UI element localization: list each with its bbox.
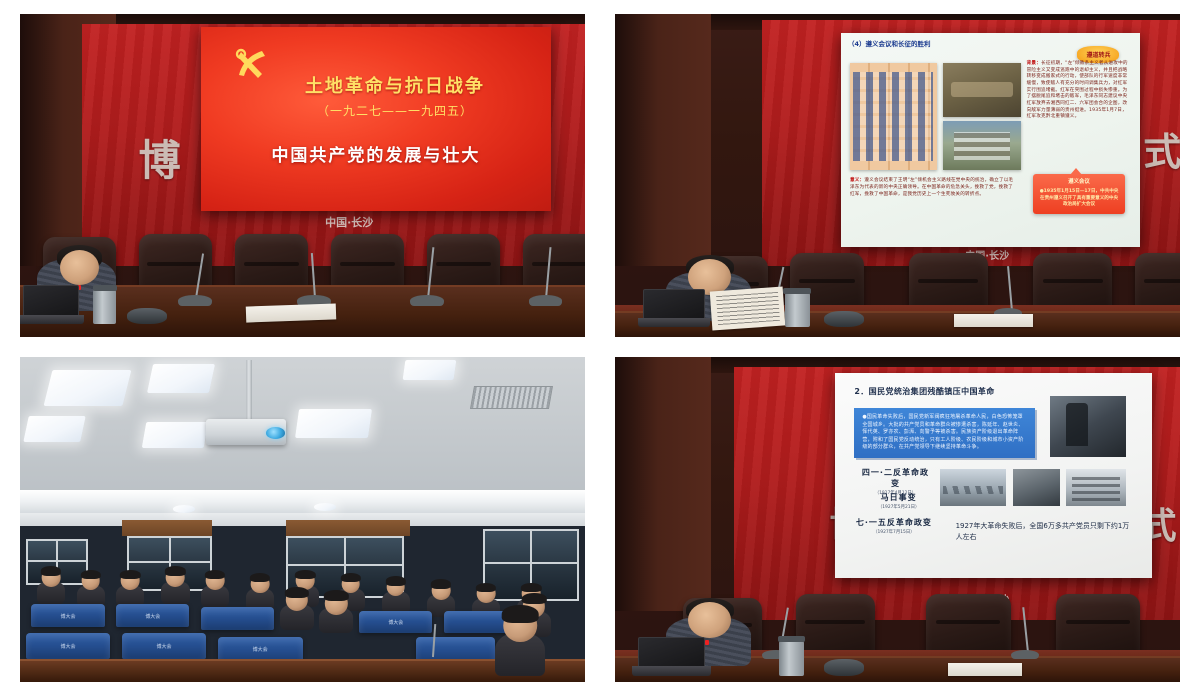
presenter-head	[688, 602, 730, 638]
audience-member	[319, 607, 353, 633]
ceiling-soffit	[20, 490, 585, 513]
slide-body-significance: 意义：遵义会议结束了王明“左”倾机会主义路线在党中央的统治，确立了以毛泽东为代表…	[850, 178, 1018, 198]
seat-cover-text: 博大会	[145, 613, 160, 620]
slide-kmt-suppression: 2．国民党统治集团残酷镇压中国革命 ●国民革命失败后，国民党新军阀疯狂地屠杀革命…	[835, 373, 1151, 578]
window-valance	[122, 520, 212, 536]
slide-title-text: 土地革命与抗日战争	[305, 72, 485, 98]
slide-blue-box: ●国民革命失败后，国民党新军阀疯狂地屠杀革命人民，白色恐怖笼罩全国城乡。大批的共…	[854, 408, 1034, 458]
slide-photo-site-building	[943, 121, 1021, 170]
photo-panel-top-left[interactable]: 博 式 中国·长沙 土地革命与抗日战争 （一九二七——一九四五） 中国共产党的发…	[20, 14, 585, 337]
projection-screen-surface: 2．国民党统治集团残酷镇压中国革命 ●国民革命失败后，国民党新军阀疯狂地屠杀革命…	[835, 373, 1151, 578]
photo-panel-bottom-right[interactable]: 博 式 中国·长沙 2．国民党统治集团残酷镇压中国革命 ●国民革命失败后，国民党…	[615, 357, 1180, 682]
seat-cover-text: 博大会	[253, 646, 268, 653]
slide-photo-meeting	[943, 63, 1021, 116]
slide-event-name: 马日事变	[864, 492, 934, 503]
ceiling-panel-light	[403, 360, 457, 380]
slide-body-label-1: 背景：	[1027, 61, 1041, 66]
slide-headline-text: 中国共产党的发展与壮大	[271, 141, 480, 166]
seat-cover-text: 博大会	[157, 643, 172, 650]
seat-row: 博大会	[122, 633, 207, 659]
computer-mouse	[824, 659, 864, 675]
slide-photo-crowd	[1013, 469, 1060, 506]
thermos-cup	[93, 289, 116, 325]
slide-body-label-2: 意义：	[850, 178, 864, 183]
slide-event-item: 七·一五反革命政变 （1927年7月15日）	[854, 517, 933, 535]
ceiling-panel-light	[44, 370, 132, 406]
seat-row: 博大会	[31, 604, 104, 627]
printed-document	[710, 286, 786, 330]
audience-member	[280, 604, 314, 630]
seat-row: 博大会	[359, 611, 432, 634]
photo-panel-bottom-left[interactable]: 博大会 博大会 博大会 博大会 博大会 博大会	[20, 357, 585, 682]
slide-heading: 2．国民党统治集团残酷镇压中国革命	[854, 386, 994, 397]
slide-callout-body: ●1935年1月15日—17日，中共中央在贵州遵义召开了具有重要意义的中央政治局…	[1040, 189, 1119, 207]
slide-event-item: 马日事变 （1927年5月21日）	[864, 492, 934, 510]
audience-member	[37, 581, 65, 604]
slide-subtitle-text: （一九二七——一九四五）	[317, 102, 473, 119]
projection-screen-surface: （4）遵义会议和长征的胜利 遵道转兵 背景：长征初期，“左”倾教条主义者从进攻中…	[841, 33, 1140, 246]
left-wood-wall	[615, 357, 711, 611]
conference-chair	[1056, 594, 1141, 656]
window-valance	[286, 520, 410, 536]
slide-photo-execution	[1050, 396, 1126, 457]
backdrop-subtext: 中国·长沙	[325, 214, 373, 230]
photo-grid: 博 式 中国·长沙 土地革命与抗日战争 （一九二七——一九四五） 中国共产党的发…	[0, 0, 1200, 700]
laptop	[643, 289, 705, 328]
audience-member	[201, 585, 229, 608]
paper-sheets	[948, 663, 1021, 676]
slide-event-name: 四一·二反革命政变	[857, 467, 933, 489]
projection-screen: 2．国民党统治集团残酷镇压中国革命 ●国民革命失败后，国民党新军阀疯狂地屠杀革命…	[835, 373, 1151, 578]
microphone-base	[529, 295, 563, 306]
backdrop-char-right: 式	[1143, 121, 1180, 176]
slide-photo-casualties	[940, 469, 1006, 506]
slide-body-2: 遵义会议结束了王明“左”倾机会主义路线在党中央的统治，确立了以毛泽东为代表的新的…	[850, 178, 1013, 196]
computer-mouse	[127, 308, 167, 324]
laptop	[23, 285, 80, 324]
slide-event-date: （1927年7月15日）	[854, 529, 933, 535]
photo-panel-top-right[interactable]: 博 式 中国·长沙 （4）遵义会议和长征的胜利 遵道转兵 背景：长征初期，“左”…	[615, 14, 1180, 337]
slide-callout-zunyi: 遵义会议 ●1935年1月15日—17日，中共中央在贵州遵义召开了具有重要意义的…	[1033, 174, 1126, 214]
backdrop-char-left: 博	[139, 127, 182, 188]
microphone-base	[178, 295, 212, 306]
slide-event-name: 七·一五反革命政变	[854, 517, 933, 528]
projection-screen: （4）遵义会议和长征的胜利 遵道转兵 背景：长征初期，“左”倾教条主义者从进攻中…	[841, 33, 1140, 246]
ceiling-panel-light	[295, 409, 373, 438]
conference-chair	[926, 594, 1011, 656]
slide-zunyi: （4）遵义会议和长征的胜利 遵道转兵 背景：长征初期，“左”倾教条主义者从进攻中…	[841, 33, 1140, 246]
left-wood-wall	[615, 14, 711, 266]
ceiling-panel-light	[23, 416, 85, 442]
ceiling-panel-light	[142, 422, 209, 448]
seat-cover-text: 博大会	[61, 613, 76, 620]
seat-cover-text: 博大会	[61, 643, 76, 650]
seat-cover-text: 博大会	[388, 619, 403, 626]
slide-title: 土地革命与抗日战争 （一九二七——一九四五） 中国共产党的发展与壮大	[201, 27, 551, 211]
projection-screen-surface: 土地革命与抗日战争 （一九二七——一九四五） 中国共产党的发展与壮大	[201, 27, 551, 211]
slide-caption: 1927年大革命失败后，全国6万多共产党员只剩下约1万人左右	[956, 521, 1133, 543]
projector-lens-icon	[266, 427, 285, 439]
seat-row: 博大会	[116, 604, 189, 627]
laptop	[638, 637, 706, 676]
microphone-base	[410, 295, 444, 306]
seat-row	[201, 607, 274, 630]
audience-member	[161, 581, 189, 604]
paper-sheets	[246, 303, 337, 322]
ceiling-panel-light	[147, 364, 215, 393]
paper-sheets	[954, 314, 1033, 327]
computer-mouse	[824, 311, 864, 327]
projector-mount-rod	[246, 360, 252, 419]
seat-row: 博大会	[26, 633, 111, 659]
lapel-pin-icon	[705, 640, 709, 645]
slide-photo-stamp-sheet	[850, 63, 937, 170]
slide-callout-title: 遵义会议	[1039, 179, 1120, 187]
slide-body-background: 背景：长征初期，“左”倾教条主义者从进攻中的冒险主义又变成逃跑中的退却主义，并且…	[1027, 61, 1132, 121]
party-emblem-icon	[232, 45, 276, 85]
projection-screen: 土地革命与抗日战争 （一九二七——一九四五） 中国共产党的发展与壮大	[201, 27, 551, 211]
ceiling-air-vent	[470, 386, 553, 409]
presenter-head	[60, 250, 100, 286]
slide-event-date: （1927年5月21日）	[864, 504, 934, 510]
thermos-cup	[785, 292, 810, 328]
audience-member-foreground	[495, 633, 546, 675]
thermos-cup	[779, 640, 804, 676]
microphone-base	[1011, 650, 1039, 660]
slide-photo-newspaper	[1066, 469, 1126, 506]
ceiling-downlight	[173, 505, 196, 513]
slide-body-1: 长征初期，“左”倾教条主义者从进攻中的冒险主义又变成逃跑中的退却主义，并且把战略…	[1027, 61, 1128, 119]
conference-chair	[796, 594, 875, 656]
